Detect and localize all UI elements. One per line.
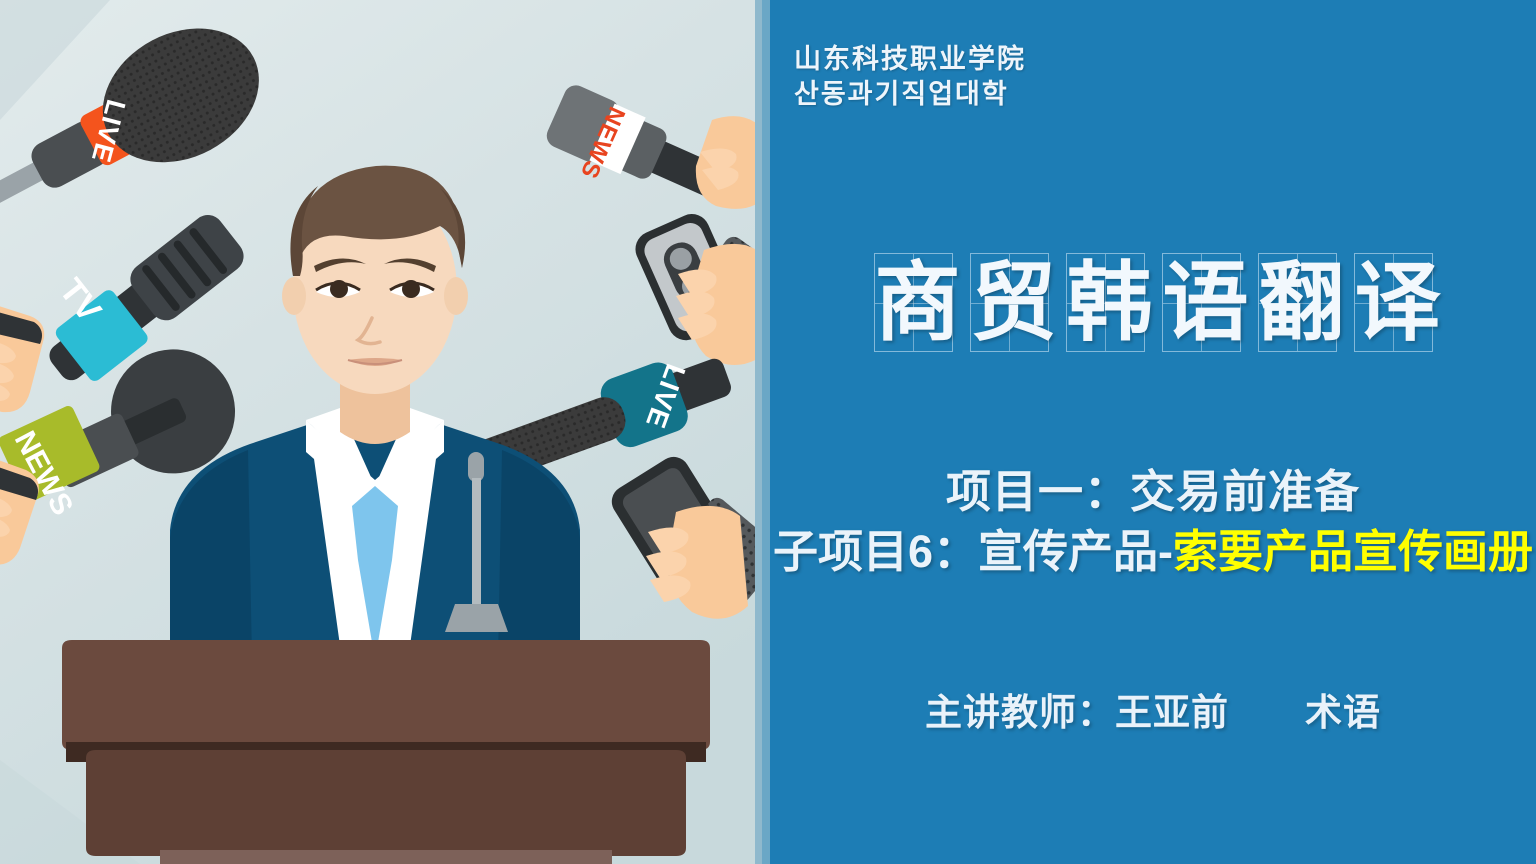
title-char-cell: 翻 (1258, 253, 1337, 352)
panel-divider-stripe-inner (762, 0, 770, 864)
title-character: 语 (1163, 260, 1240, 346)
title-panel: 山东科技职业学院 산동과기직업대학 商 贸 韩 语 (770, 0, 1536, 864)
podium (62, 640, 710, 864)
course-title-grid: 商 贸 韩 语 翻 (770, 253, 1536, 352)
title-character: 译 (1355, 260, 1432, 346)
subproject-highlight: 索要产品宣传画册 (1173, 526, 1533, 577)
presentation-slide: LIVE TV (0, 0, 1536, 864)
subproject-prefix: 子项目6：宣传产品- (773, 526, 1173, 577)
panel-divider-stripe-outer (755, 0, 762, 864)
subtitle-block: 项目一：交易前准备 子项目6：宣传产品-索要产品宣传画册 (770, 462, 1536, 582)
title-character: 商 (875, 260, 952, 346)
school-name-block: 山东科技职业学院 산동과기직업대학 (794, 42, 1026, 111)
title-character: 韩 (1067, 260, 1144, 346)
title-character: 贸 (971, 260, 1048, 346)
title-char-cell: 译 (1354, 253, 1433, 352)
title-char-cell: 商 (874, 253, 953, 352)
project-title: 项目一：交易前准备 (770, 462, 1536, 522)
title-char-cell: 语 (1162, 253, 1241, 352)
school-name-chinese: 山东科技职业学院 (794, 42, 1026, 77)
title-char-cell: 韩 (1066, 253, 1145, 352)
speaker-podium-illustration: LIVE TV (0, 0, 755, 864)
title-char-cell: 贸 (970, 253, 1049, 352)
title-character: 翻 (1259, 260, 1336, 346)
school-name-korean: 산동과기직업대학 (794, 77, 1026, 112)
subproject-title: 子项目6：宣传产品-索要产品宣传画册 (770, 522, 1536, 582)
instructor-label: 主讲教师：王亚前 术语 (770, 682, 1536, 736)
